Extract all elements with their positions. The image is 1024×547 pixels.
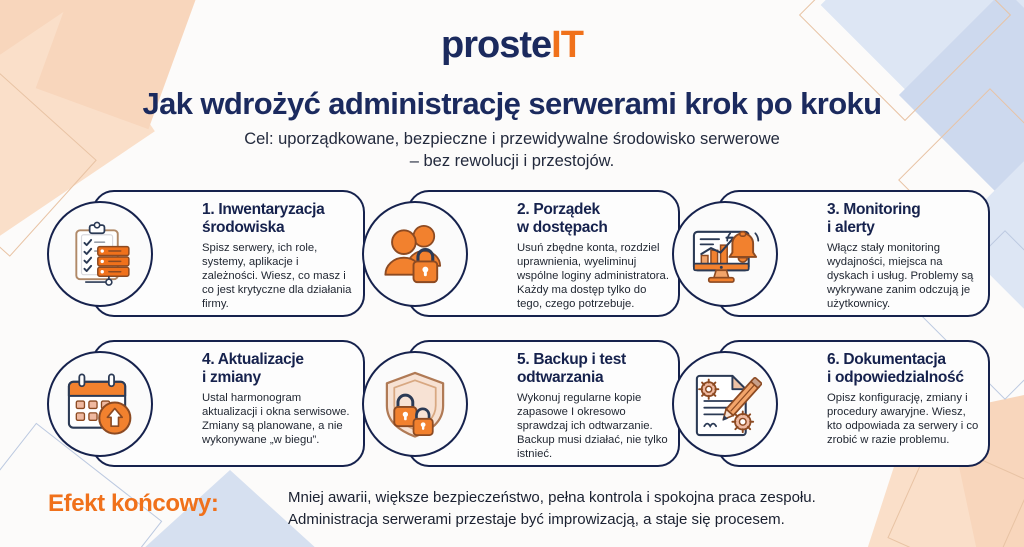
step-card-3-description: Włącz stały monitoring wydajności, miejs… bbox=[827, 241, 979, 311]
document-gears-pencil-icon bbox=[672, 351, 778, 457]
infographic-page: prosteIT Jak wdrożyć administrację serwe… bbox=[0, 0, 1024, 547]
footer-text: Mniej awarii, większe bezpieczeństwo, pe… bbox=[288, 487, 816, 531]
step-card-5-title: 5. Backup i test odtwarzania bbox=[517, 351, 669, 387]
clipboard-server-icon bbox=[47, 201, 153, 307]
step-card-6-title-line-1: 6. Dokumentacja bbox=[827, 351, 979, 369]
shield-locks-icon bbox=[362, 351, 468, 457]
step-card-4[interactable]: 4. Aktualizacje i zmiany Ustal harmonogr… bbox=[92, 340, 365, 467]
step-card-4-body: 4. Aktualizacje i zmiany Ustal harmonogr… bbox=[202, 351, 354, 459]
footer-text-line-1: Mniej awarii, większe bezpieczeństwo, pe… bbox=[288, 487, 816, 509]
monitor-chart-bell-icon bbox=[672, 201, 778, 307]
step-card-5-description: Wykonuj regularne kopie zapasowe I okres… bbox=[517, 391, 669, 461]
step-card-1-description: Spisz serwery, ich role, systemy, aplika… bbox=[202, 241, 354, 311]
step-card-1-title-line-1: 1. Inwentaryzacja bbox=[202, 201, 354, 219]
subtitle-line-2: – bez rewolucji i przestojów. bbox=[0, 150, 1024, 172]
step-card-2-description: Usuń zbędne konta, rozdziel uprawnienia,… bbox=[517, 241, 669, 311]
logo-text-primary: proste bbox=[441, 24, 551, 66]
step-card-3[interactable]: 3. Monitoring i alerty Włącz stały monit… bbox=[717, 190, 990, 317]
step-card-4-title: 4. Aktualizacje i zmiany bbox=[202, 351, 354, 387]
step-card-2-title-line-1: 2. Porządek bbox=[517, 201, 669, 219]
footer-label: Efekt końcowy: bbox=[48, 490, 218, 518]
step-card-6-title-line-2: i odpowiedzialność bbox=[827, 369, 979, 387]
logo-text-accent: IT bbox=[551, 24, 583, 66]
step-card-1-body: 1. Inwentaryzacja środowiska Spisz serwe… bbox=[202, 201, 354, 309]
step-card-2[interactable]: 2. Porządek w dostępach Usuń zbędne kont… bbox=[407, 190, 680, 317]
step-card-6[interactable]: 6. Dokumentacja i odpowiedzialność Opisz… bbox=[717, 340, 990, 467]
step-card-5-body: 5. Backup i test odtwarzania Wykonuj reg… bbox=[517, 351, 669, 459]
step-card-5[interactable]: 5. Backup i test odtwarzania Wykonuj reg… bbox=[407, 340, 680, 467]
step-card-1[interactable]: 1. Inwentaryzacja środowiska Spisz serwe… bbox=[92, 190, 365, 317]
footer-text-line-2: Administracja serwerami przestaje być im… bbox=[288, 509, 816, 531]
calendar-arrow-up-icon bbox=[47, 351, 153, 457]
step-card-3-title: 3. Monitoring i alerty bbox=[827, 201, 979, 237]
step-card-5-title-line-2: odtwarzania bbox=[517, 369, 669, 387]
step-card-3-title-line-1: 3. Monitoring bbox=[827, 201, 979, 219]
users-lock-icon bbox=[362, 201, 468, 307]
subtitle-line-1: Cel: uporządkowane, bezpieczne i przewid… bbox=[0, 128, 1024, 150]
step-card-3-title-line-2: i alerty bbox=[827, 219, 979, 237]
step-card-6-description: Opisz konfigurację, zmiany i procedury a… bbox=[827, 391, 979, 447]
step-card-4-description: Ustal harmonogram aktualizacji i okna se… bbox=[202, 391, 354, 447]
step-card-3-body: 3. Monitoring i alerty Włącz stały monit… bbox=[827, 201, 979, 309]
step-card-2-body: 2. Porządek w dostępach Usuń zbędne kont… bbox=[517, 201, 669, 309]
page-subtitle: Cel: uporządkowane, bezpieczne i przewid… bbox=[0, 128, 1024, 172]
step-card-1-title-line-2: środowiska bbox=[202, 219, 354, 237]
step-card-2-title-line-2: w dostępach bbox=[517, 219, 669, 237]
brand-logo: prosteIT bbox=[0, 24, 1024, 67]
step-card-2-title: 2. Porządek w dostępach bbox=[517, 201, 669, 237]
page-title: Jak wdrożyć administrację serwerami krok… bbox=[0, 86, 1024, 122]
step-card-5-title-line-1: 5. Backup i test bbox=[517, 351, 669, 369]
step-card-6-title: 6. Dokumentacja i odpowiedzialność bbox=[827, 351, 979, 387]
step-card-4-title-line-2: i zmiany bbox=[202, 369, 354, 387]
step-card-4-title-line-1: 4. Aktualizacje bbox=[202, 351, 354, 369]
step-card-1-title: 1. Inwentaryzacja środowiska bbox=[202, 201, 354, 237]
step-card-6-body: 6. Dokumentacja i odpowiedzialność Opisz… bbox=[827, 351, 979, 459]
